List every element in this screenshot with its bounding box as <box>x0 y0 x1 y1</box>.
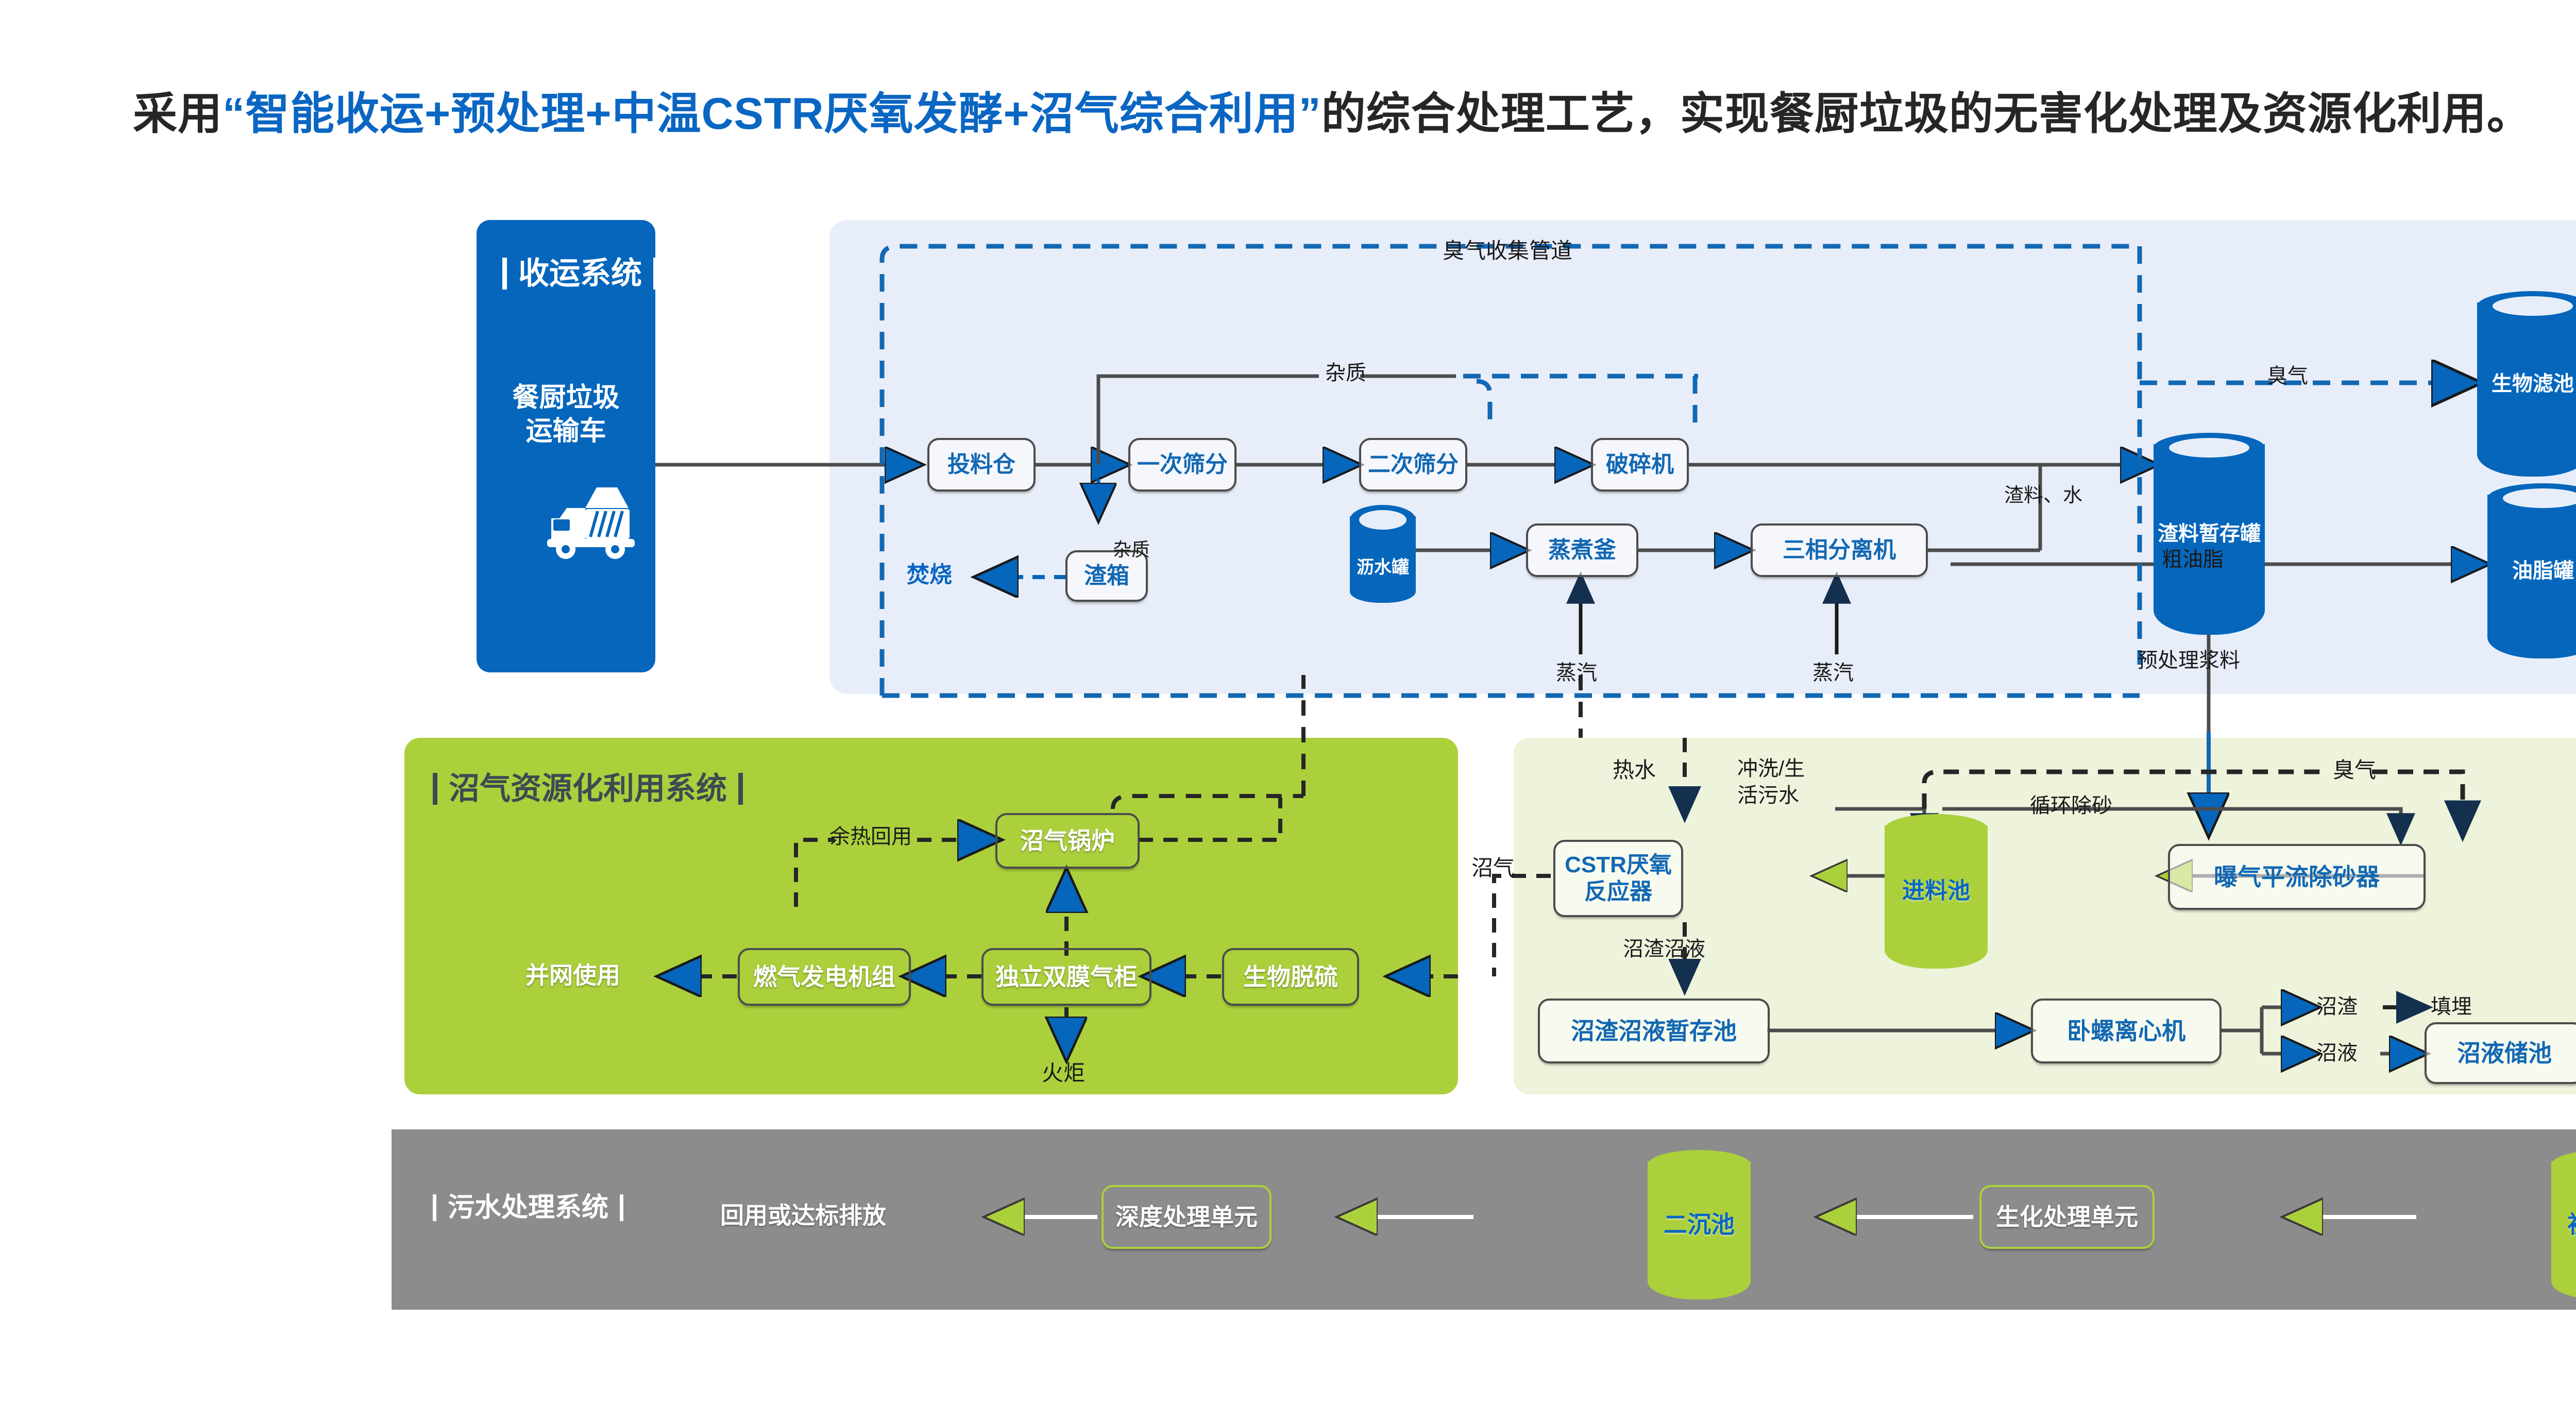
cylinder-label: 油脂罐 <box>2487 559 2576 583</box>
wastewater-section-header: 污水处理系统 <box>433 1194 623 1221</box>
label-impurity: 杂质 <box>1325 361 1366 385</box>
node-cooker[interactable]: 蒸煮釜 <box>1526 523 1638 577</box>
cylinder-rim <box>2503 488 2576 508</box>
collection-subject: 餐厨垃圾 运输车 <box>477 381 655 448</box>
label-odor-collection-pipe: 臭气收集管道 <box>1443 238 1572 264</box>
cylinder-label: 二沉池 <box>1648 1210 1751 1239</box>
cstr-line2: 反应器 <box>1584 878 1652 905</box>
cylinder-label: 渣料暂存罐 <box>2154 521 2265 546</box>
cylinder-feed-pool[interactable]: 进料池 <box>1885 814 1988 969</box>
label-pretreatment-slurry: 预处理浆料 <box>2137 648 2240 673</box>
cylinder-primary-clarifier[interactable]: 初沉池 <box>2551 1150 2576 1299</box>
node-feed-bin[interactable]: 投料仓 <box>927 438 1036 492</box>
node-crusher[interactable]: 破碎机 <box>1591 438 1689 492</box>
label-incinerate: 焚烧 <box>907 562 952 589</box>
cylinder-rim <box>2169 438 2249 458</box>
label-digestate: 沼渣沼液 <box>1623 937 1705 961</box>
label-biogas: 沼气 <box>1471 855 1515 881</box>
node-digestate-storage-pool[interactable]: 沼渣沼液暂存池 <box>1538 999 1770 1063</box>
cylinder-label: 沥水罐 <box>1350 557 1416 578</box>
node-secondary-screening[interactable]: 二次筛分 <box>1359 438 1467 492</box>
header-bar-left <box>502 258 507 290</box>
header-bar-left <box>433 1194 436 1221</box>
cylinder-rim <box>1359 510 1406 530</box>
header-bar-right <box>738 773 743 805</box>
label-steam-cooker: 蒸汽 <box>1556 661 1597 685</box>
cylinder-label: 进料池 <box>1885 878 1988 905</box>
label-impurity-2: 杂质 <box>1113 538 1150 561</box>
node-advanced-treatment-unit[interactable]: 深度处理单元 <box>1101 1185 1272 1249</box>
cylinder-slag-storage-tank[interactable]: 渣料暂存罐 <box>2154 433 2265 635</box>
label-landfill: 填埋 <box>2431 994 2472 1019</box>
node-biogas-slurry-pool[interactable]: 沼液储池 <box>2425 1022 2576 1084</box>
cylinder-rim <box>2493 296 2573 316</box>
collection-title: 收运系统 <box>518 258 642 289</box>
cstr-line1: CSTR厌氧 <box>1565 852 1672 878</box>
label-waste-heat-reuse: 余热回用 <box>829 824 912 849</box>
label-reuse-or-discharge: 回用或达标排放 <box>720 1202 886 1230</box>
label-flush-line2: 活污水 <box>1737 782 1805 809</box>
header-bar-right <box>620 1194 623 1221</box>
label-steam-separator: 蒸汽 <box>1812 661 1854 685</box>
header-bar-left <box>433 773 437 805</box>
label-crude-grease: 粗油脂 <box>2162 547 2224 572</box>
biogas-title: 沼气资源化利用系统 <box>449 773 727 804</box>
node-decanter-centrifuge[interactable]: 卧螺离心机 <box>2031 999 2222 1063</box>
cylinder-biofilter[interactable]: 生物滤池 <box>2477 291 2576 477</box>
label-odor-pretreat: 臭气 <box>2267 364 2308 388</box>
cylinder-grease-tank[interactable]: 油脂罐 <box>2487 483 2576 658</box>
node-biogas-boiler[interactable]: 沼气锅炉 <box>995 813 1140 869</box>
collection-subject-line2: 运输车 <box>477 415 655 448</box>
label-flare: 火炬 <box>1042 1060 1085 1086</box>
cylinder-label: 初沉池 <box>2551 1210 2576 1239</box>
title-prefix: 采用 <box>133 89 223 139</box>
node-biochemical-treatment-unit[interactable]: 生化处理单元 <box>1979 1185 2155 1249</box>
collection-subject-line1: 餐厨垃圾 <box>477 381 655 415</box>
node-biological-desulfurization[interactable]: 生物脱硫 <box>1222 948 1359 1006</box>
cylinder-secondary-clarifier[interactable]: 二沉池 <box>1648 1150 1751 1299</box>
label-odor-anaerobic: 臭气 <box>2333 757 2376 783</box>
node-aerated-grit-chamber[interactable]: 曝气平流除砂器 <box>2168 844 2426 910</box>
header-bar-right <box>653 258 658 290</box>
node-dual-membrane-gas-holder[interactable]: 独立双膜气柜 <box>981 948 1151 1006</box>
cylinder-drain-tank[interactable]: 沥水罐 <box>1350 505 1416 603</box>
label-biogas-liquid: 沼液 <box>2316 1041 2358 1065</box>
node-three-phase-separator[interactable]: 三相分离机 <box>1751 523 1928 577</box>
title-suffix: 的综合处理工艺，实现餐厨垃圾的无害化处理及资源化利用。 <box>1321 89 2532 139</box>
biogas-section-header: 沼气资源化利用系统 <box>433 773 743 805</box>
label-grit-recirculation: 循环除砂 <box>2030 793 2112 818</box>
node-primary-screening[interactable]: 一次筛分 <box>1128 438 1236 492</box>
node-cstr-anaerobic-reactor[interactable]: CSTR厌氧 反应器 <box>1553 840 1683 917</box>
label-flush-sewage: 冲洗/生 活污水 <box>1737 755 1805 809</box>
label-biogas-residue: 沼渣 <box>2316 994 2358 1019</box>
garbage-truck-icon <box>536 478 654 561</box>
page-title: 采用“智能收运+预处理+中温CSTR厌氧发酵+沼气综合利用”的综合处理工艺，实现… <box>133 77 2576 142</box>
label-grid-use: 并网使用 <box>526 961 620 990</box>
label-slag-water: 渣料、水 <box>2004 484 2082 508</box>
label-hot-water: 热水 <box>1613 757 1656 783</box>
collection-section-header: 收运系统 <box>502 258 658 290</box>
wastewater-title: 污水处理系统 <box>448 1194 608 1221</box>
node-gas-generator-set[interactable]: 燃气发电机组 <box>738 948 911 1006</box>
title-highlight: “智能收运+预处理+中温CSTR厌氧发酵+沼气综合利用” <box>223 89 1321 139</box>
label-flush-line1: 冲洗/生 <box>1737 755 1805 782</box>
pretreatment-panel <box>829 220 2576 694</box>
cylinder-label: 生物滤池 <box>2477 371 2576 396</box>
wastewater-panel <box>392 1129 2576 1310</box>
